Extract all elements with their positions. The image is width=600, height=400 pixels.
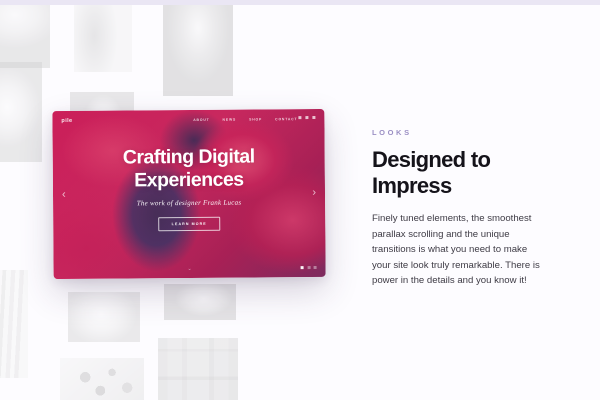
collage-tile-2	[74, 0, 132, 72]
hero-title-line-2: Experiences	[79, 168, 299, 192]
collage-tile-1	[0, 0, 50, 68]
collage-tile-9	[68, 292, 140, 342]
collage-tile-4	[0, 62, 42, 162]
twitter-icon[interactable]	[305, 116, 308, 119]
hero-menu-item-shop[interactable]: SHOP	[249, 117, 262, 121]
hero-navbar: pile ABOUT NEWS SHOP CONTACT	[52, 109, 324, 130]
facebook-icon[interactable]	[298, 116, 301, 119]
headline-line-2: Impress	[372, 173, 532, 199]
slider-dot-1[interactable]	[301, 266, 304, 269]
section-eyebrow: LOOKS	[372, 128, 562, 137]
slider-dot-3[interactable]	[314, 266, 317, 269]
hero-title: Crafting Digital Experiences	[79, 145, 299, 192]
body-paragraph: Finely tuned elements, the smoothest par…	[372, 211, 542, 289]
collage-tile-8	[158, 338, 238, 400]
hero-slider-pagination	[301, 266, 317, 269]
instagram-icon[interactable]	[312, 116, 315, 119]
chevron-right-icon[interactable]: ›	[312, 188, 316, 199]
hero-menu-item-about[interactable]: ABOUT	[193, 117, 209, 121]
hero-menu-item-news[interactable]: NEWS	[223, 117, 237, 121]
collage-tile-10	[164, 284, 236, 320]
hero-subtitle: The work of designer Frank Lucas	[79, 198, 299, 208]
hero-learn-more-button[interactable]: LEARN MORE	[159, 217, 220, 231]
hero-title-line-1: Crafting Digital	[79, 145, 299, 169]
collage-tile-7	[60, 358, 144, 400]
copy-column: LOOKS Designed to Impress Finely tuned e…	[372, 128, 562, 289]
top-accent-strip	[0, 0, 600, 5]
slider-dot-2[interactable]	[307, 266, 310, 269]
page-title: Designed to Impress	[372, 147, 532, 198]
chevron-left-icon[interactable]: ‹	[62, 189, 66, 200]
hero-preview-card[interactable]: pile ABOUT NEWS SHOP CONTACT Crafting Di…	[52, 109, 325, 279]
collage-tile-5	[0, 270, 28, 378]
chevron-down-icon[interactable]: ⌄	[187, 267, 191, 272]
hero-menu-item-contact[interactable]: CONTACT	[275, 117, 297, 121]
hero-content: Crafting Digital Experiences The work of…	[53, 145, 326, 232]
hero-logo[interactable]: pile	[61, 117, 72, 123]
hero-menu: ABOUT NEWS SHOP CONTACT	[193, 117, 297, 122]
page-root: pile ABOUT NEWS SHOP CONTACT Crafting Di…	[0, 0, 600, 400]
collage-tile-3	[163, 0, 233, 96]
hero-social-links	[298, 116, 315, 119]
headline-line-1: Designed to	[372, 147, 532, 173]
